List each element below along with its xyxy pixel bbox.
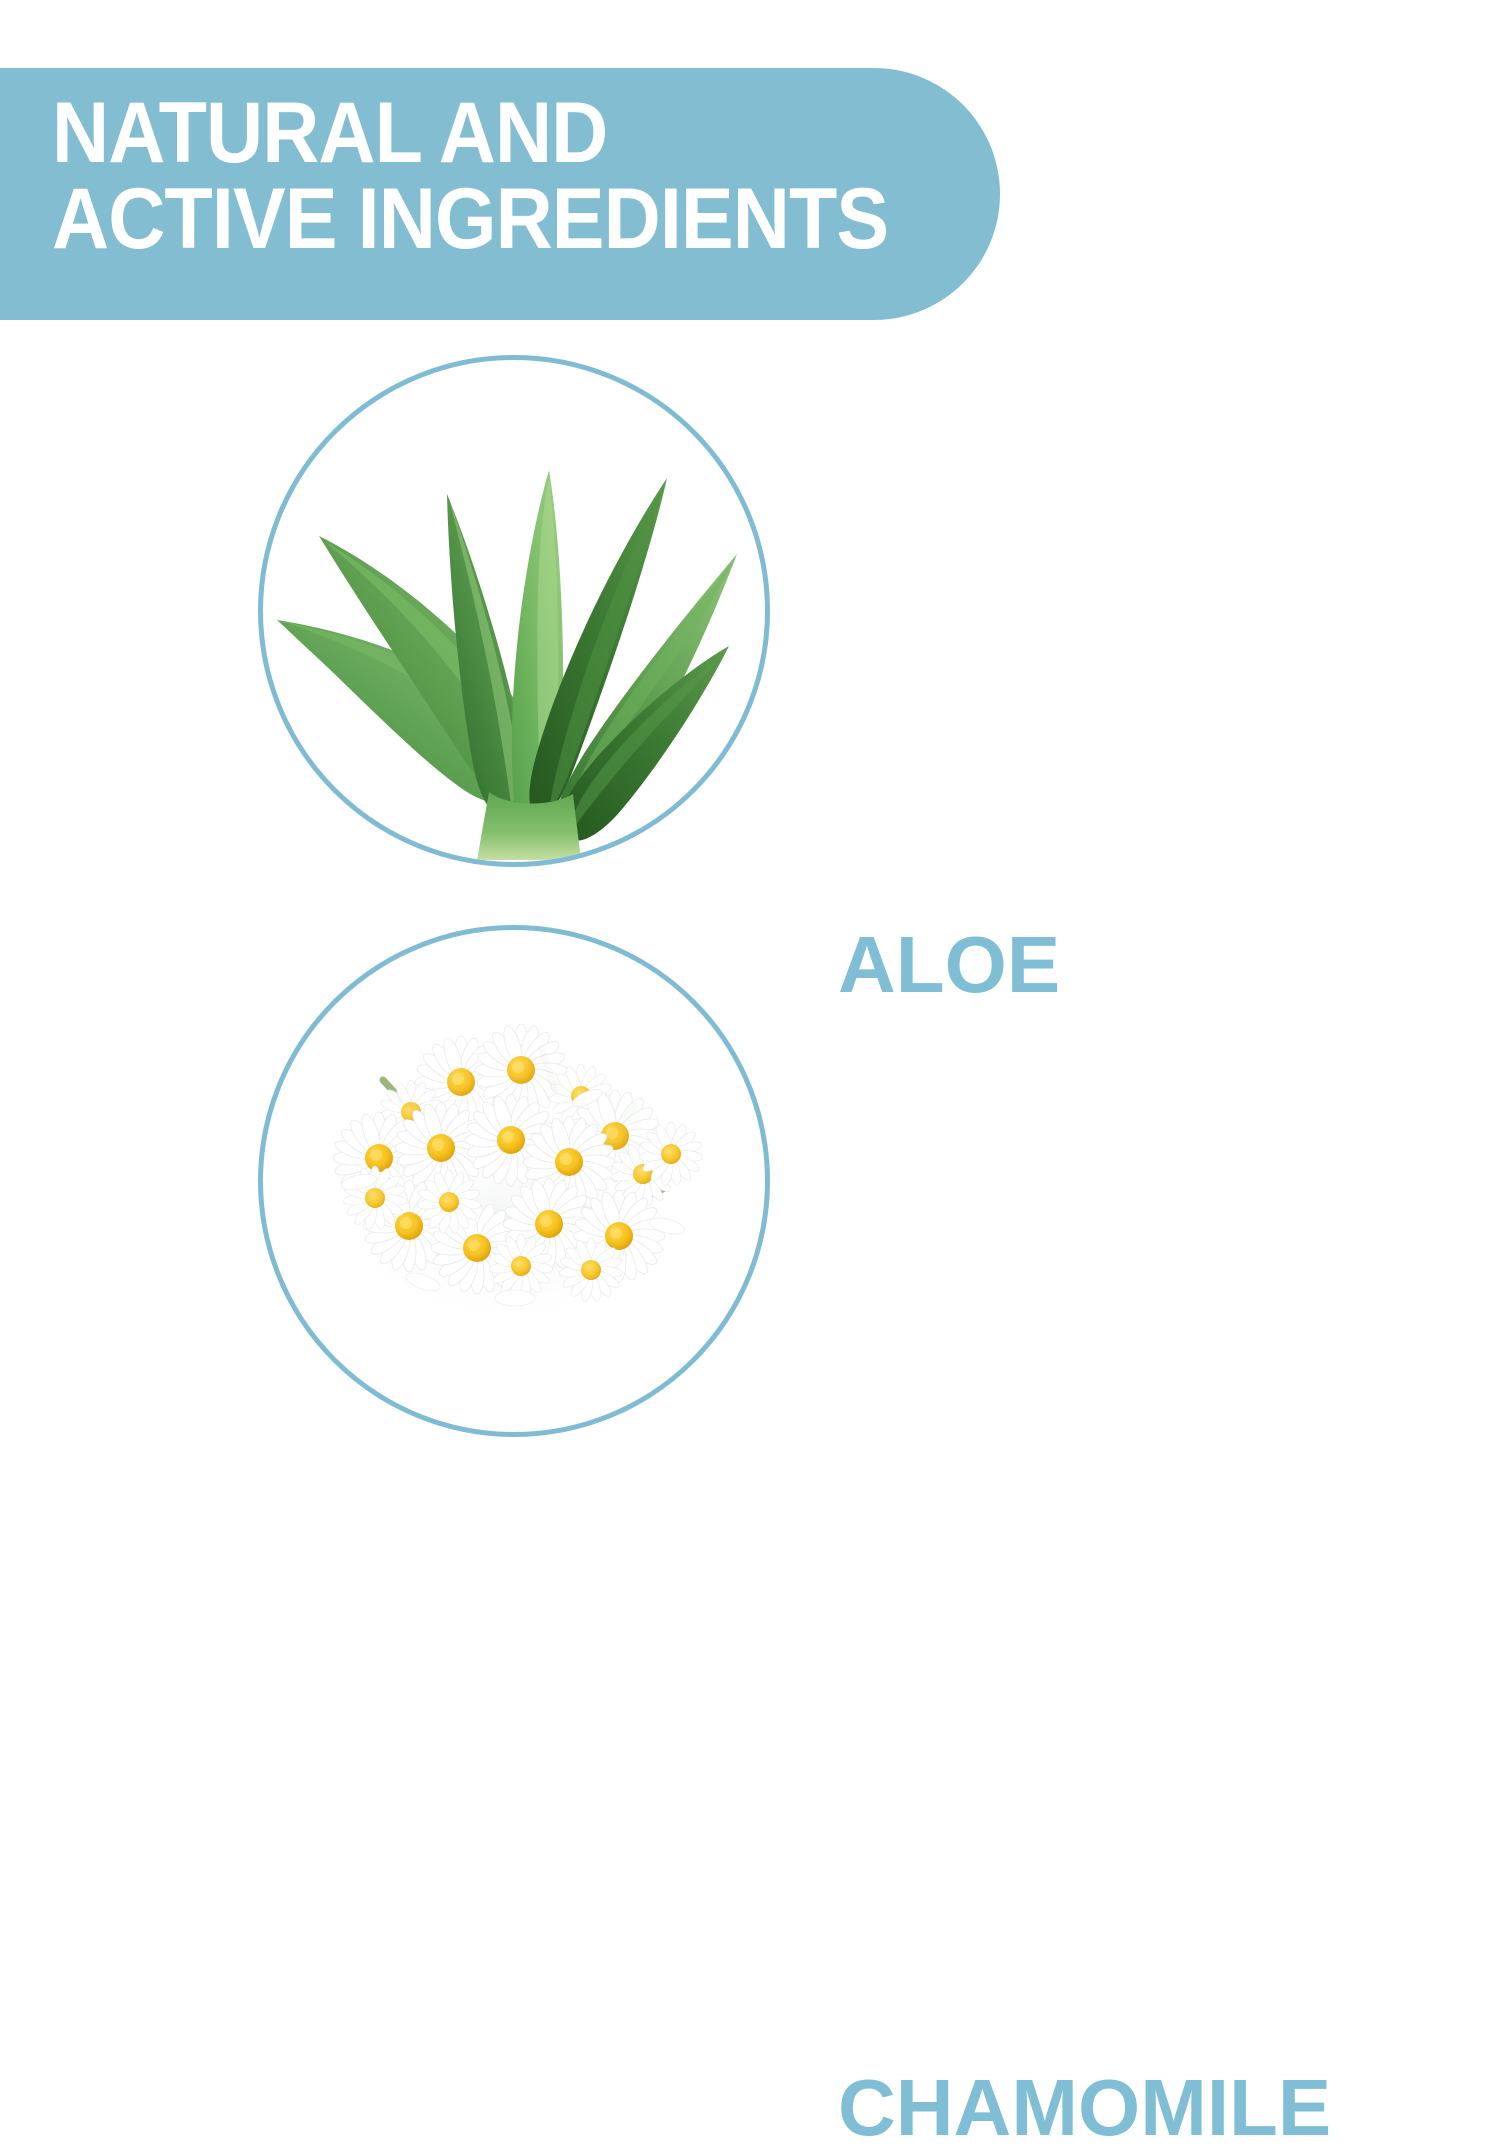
header-banner: NATURAL AND ACTIVE INGREDIENTS <box>0 68 1000 320</box>
ingredient-image-circle-aloe <box>258 355 770 867</box>
infographic-page: NATURAL AND ACTIVE INGREDIENTS <box>0 0 1500 1500</box>
banner-title-line-2: ACTIVE INGREDIENTS <box>52 176 888 262</box>
chamomile-flowers-photo <box>263 930 765 1432</box>
ingredient-row-chamomile: CHAMOMILE <box>0 925 1500 1445</box>
banner-title: NATURAL AND ACTIVE INGREDIENTS <box>52 90 888 262</box>
aloe-vera-plant-photo <box>263 360 765 862</box>
ingredient-row-aloe: ALOE <box>0 355 1500 875</box>
ingredient-label-chamomile: CHAMOMILE <box>838 2068 1331 2148</box>
banner-title-line-1: NATURAL AND <box>52 90 888 176</box>
ingredient-image-circle-chamomile <box>258 925 770 1437</box>
